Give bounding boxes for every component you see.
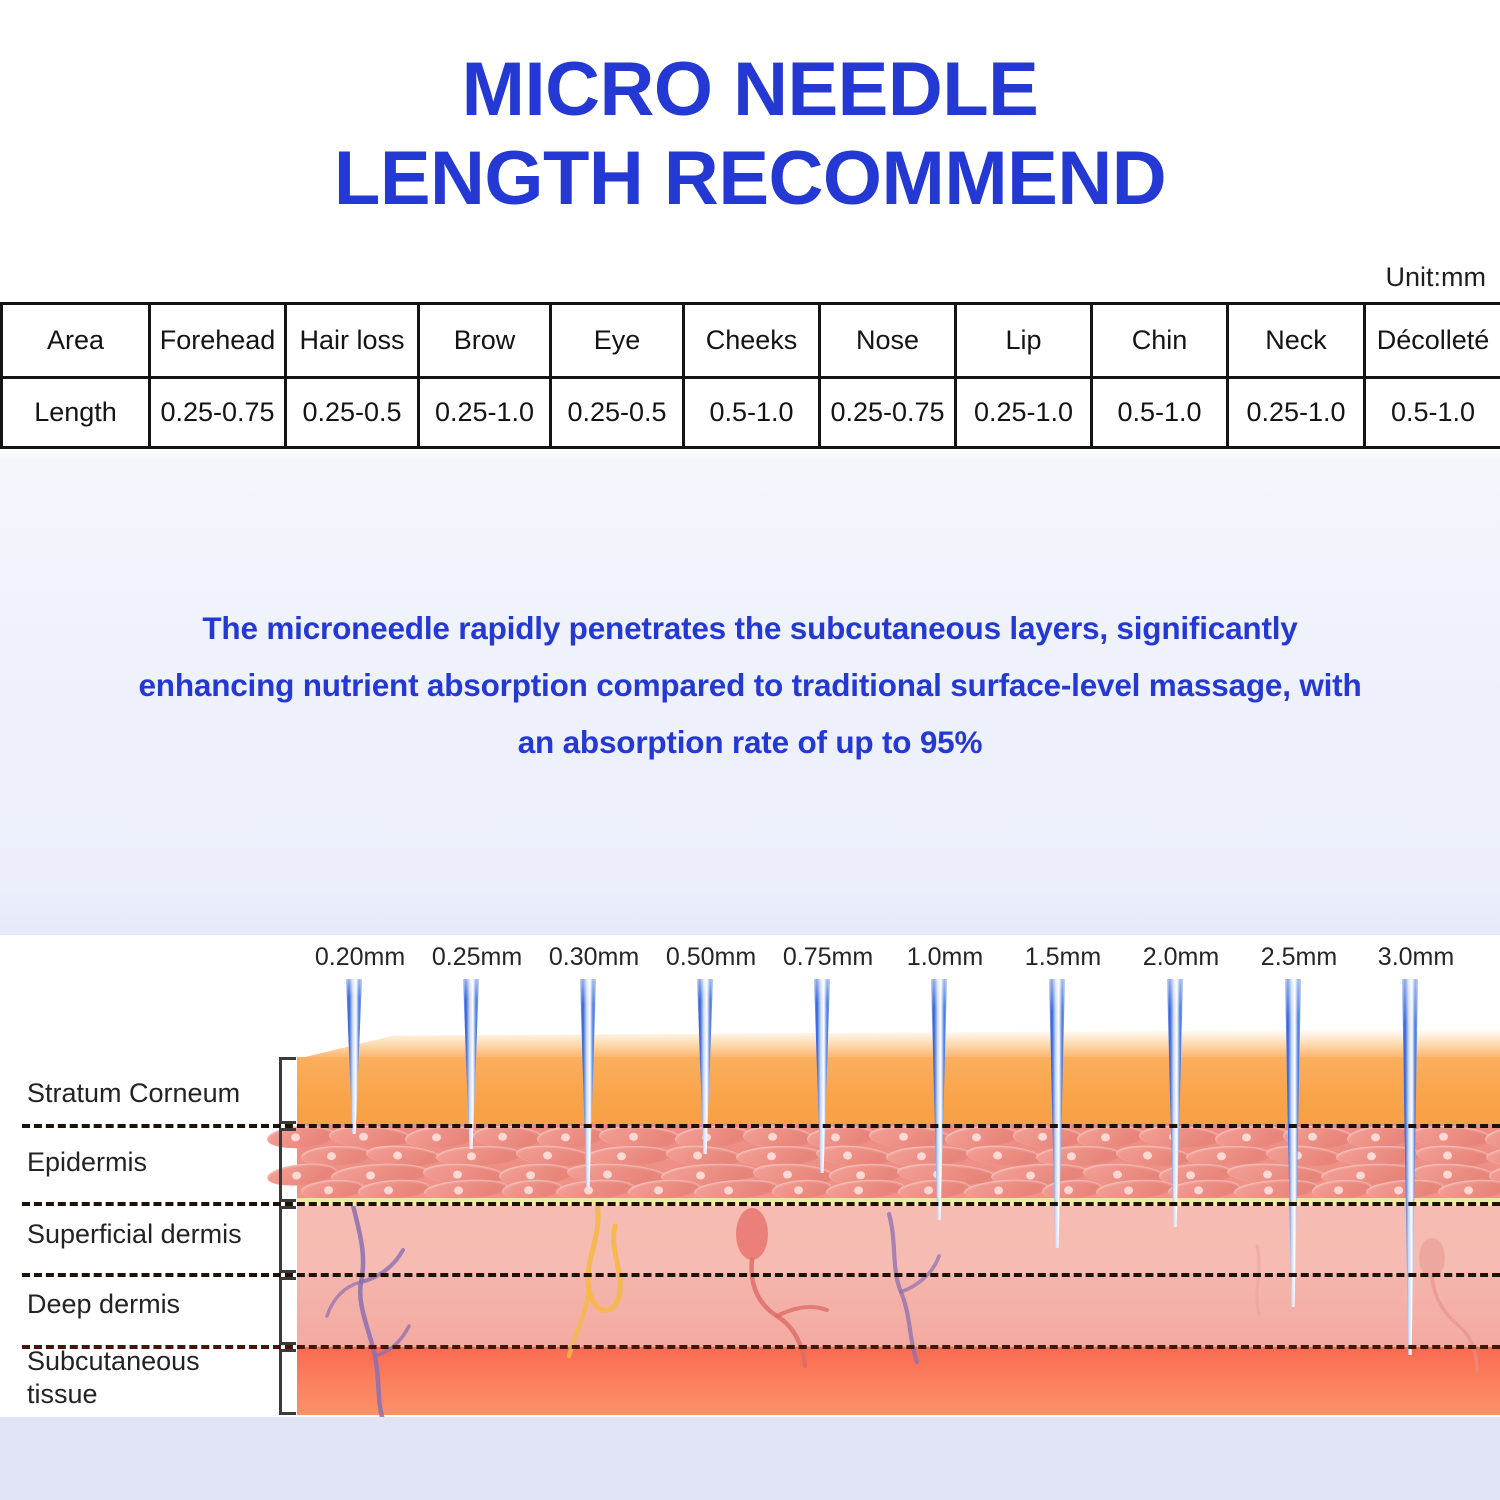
table-col-chin: Chin [1092,304,1228,378]
description-line-2: enhancing nutrient absorption compared t… [75,657,1425,714]
needle-9 [1402,979,1418,1355]
description-line-3: an absorption rate of up to 95% [75,714,1425,771]
needle-6 [1049,979,1065,1248]
title-line-1: MICRO NEEDLE [0,52,1500,128]
table-rowlabel-length: Length [2,378,150,448]
page-title: MICRO NEEDLE LENGTH RECOMMEND [0,52,1500,223]
table-cell-neck-length: 0.25-1.0 [1228,378,1365,448]
skin-penetration-diagram: 0.20mm 0.25mm 0.30mm 0.50mm 0.75mm 1.0mm… [0,935,1500,1417]
needle-8 [1285,979,1301,1307]
table-cell-nose-length: 0.25-0.75 [820,378,956,448]
bracket-epidermis [279,1128,296,1202]
table-col-cheeks: Cheeks [684,304,820,378]
table-row: Area Forehead Hair loss Brow Eye Cheeks … [2,304,1500,378]
table-col-forehead: Forehead [150,304,286,378]
layer-label-deep-dermis: Deep dermis [27,1288,180,1321]
boundary-epidermis-superficial [22,1202,1500,1206]
bracket-stratum-corneum [279,1057,296,1124]
table-col-nose: Nose [820,304,956,378]
table-cell-decollete-length: 0.5-1.0 [1365,378,1500,448]
table-col-neck: Neck [1228,304,1365,378]
needle-4 [814,979,830,1173]
table-cell-eye-length: 0.25-0.5 [551,378,684,448]
boundary-stratum-epidermis [22,1124,1500,1128]
layer-label-stratum-corneum: Stratum Corneum [27,1077,240,1110]
table-cell-hairloss-length: 0.25-0.5 [286,378,419,448]
infographic-page: MICRO NEEDLE LENGTH RECOMMEND Unit:mm Ar… [0,0,1500,1500]
unit-note: Unit:mm [1386,262,1487,293]
needle-2 [580,979,596,1188]
table-col-brow: Brow [419,304,551,378]
bracket-superficial-dermis [279,1206,296,1273]
table-cell-chin-length: 0.5-1.0 [1092,378,1228,448]
description-paragraph: The microneedle rapidly penetrates the s… [75,600,1425,771]
table-cell-brow-length: 0.25-1.0 [419,378,551,448]
layer-label-epidermis: Epidermis [27,1146,147,1179]
title-line-2: LENGTH RECOMMEND [0,141,1500,217]
needle-0 [346,979,362,1134]
layer-label-subcutaneous-tissue: Subcutaneous tissue [27,1345,257,1411]
table-col-eye: Eye [551,304,684,378]
table-row: Length 0.25-0.75 0.25-0.5 0.25-1.0 0.25-… [2,378,1500,448]
table-col-hairloss: Hair loss [286,304,419,378]
needle-length-table: Area Forehead Hair loss Brow Eye Cheeks … [0,302,1500,449]
table-cell-cheeks-length: 0.5-1.0 [684,378,820,448]
needle-7 [1167,979,1183,1227]
table-col-decollete: Décolleté [1365,304,1500,378]
table-cell-forehead-length: 0.25-0.75 [150,378,286,448]
description-line-1: The microneedle rapidly penetrates the s… [75,600,1425,657]
boundary-superficial-deep [22,1273,1500,1277]
bracket-deep-dermis [279,1277,296,1345]
table-col-lip: Lip [956,304,1092,378]
bottom-strip [0,1417,1500,1500]
needle-5 [931,979,947,1220]
table-cell-lip-length: 0.25-1.0 [956,378,1092,448]
table-rowlabel-area: Area [2,304,150,378]
layer-label-superficial-dermis: Superficial dermis [27,1218,242,1251]
bracket-subcutaneous-tissue [279,1349,296,1415]
